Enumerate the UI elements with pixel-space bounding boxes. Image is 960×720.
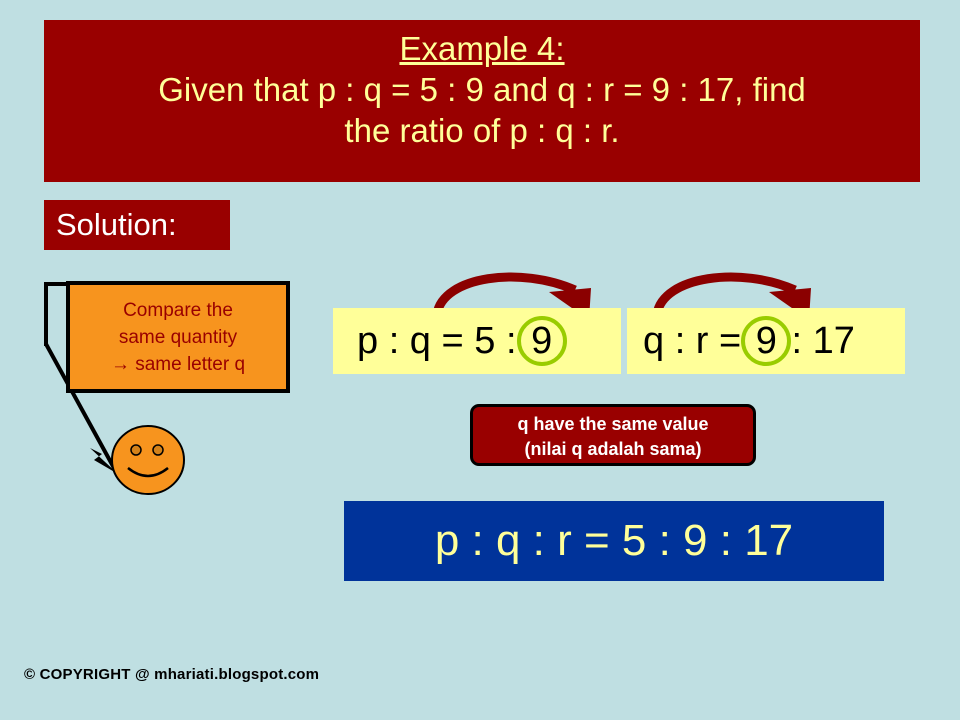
title-line-3: the ratio of p : q : r. bbox=[44, 110, 920, 151]
note-line-2: same quantity bbox=[70, 324, 286, 351]
note-line-1: Compare the bbox=[70, 297, 286, 324]
value-note-line-2: (nilai q adalah sama) bbox=[473, 437, 753, 462]
equation-2-suffix: : 17 bbox=[781, 320, 855, 362]
equation-box-2: q : r = 9 : 17 bbox=[627, 308, 905, 374]
title-banner: Example 4: Given that p : q = 5 : 9 and … bbox=[44, 20, 920, 182]
smiley-face-icon bbox=[110, 424, 186, 496]
copyright-footer: © COPYRIGHT @ mhariati.blogspot.com bbox=[24, 666, 319, 683]
equation-2-prefix: q : r = bbox=[643, 320, 752, 362]
compare-note-box: Compare the same quantity → same letter … bbox=[66, 281, 290, 393]
solution-label: Solution: bbox=[44, 200, 230, 250]
title-line-2: Given that p : q = 5 : 9 and q : r = 9 :… bbox=[44, 69, 920, 110]
title-line-1: Example 4: bbox=[44, 28, 920, 69]
same-value-note: q have the same value (nilai q adalah sa… bbox=[470, 404, 756, 466]
value-note-line-1: q have the same value bbox=[473, 412, 753, 437]
equation-1-prefix: p : q = 5 : bbox=[357, 320, 527, 362]
slide-canvas: Example 4: Given that p : q = 5 : 9 and … bbox=[0, 0, 960, 720]
equation-box-1: p : q = 5 : 9 bbox=[333, 308, 621, 374]
answer-box: p : q : r = 5 : 9 : 17 bbox=[344, 501, 884, 581]
equation-2-highlighted-value: 9 bbox=[752, 308, 781, 374]
note-line-3: → same letter q bbox=[70, 351, 286, 378]
equation-1-highlighted-value: 9 bbox=[527, 308, 556, 374]
